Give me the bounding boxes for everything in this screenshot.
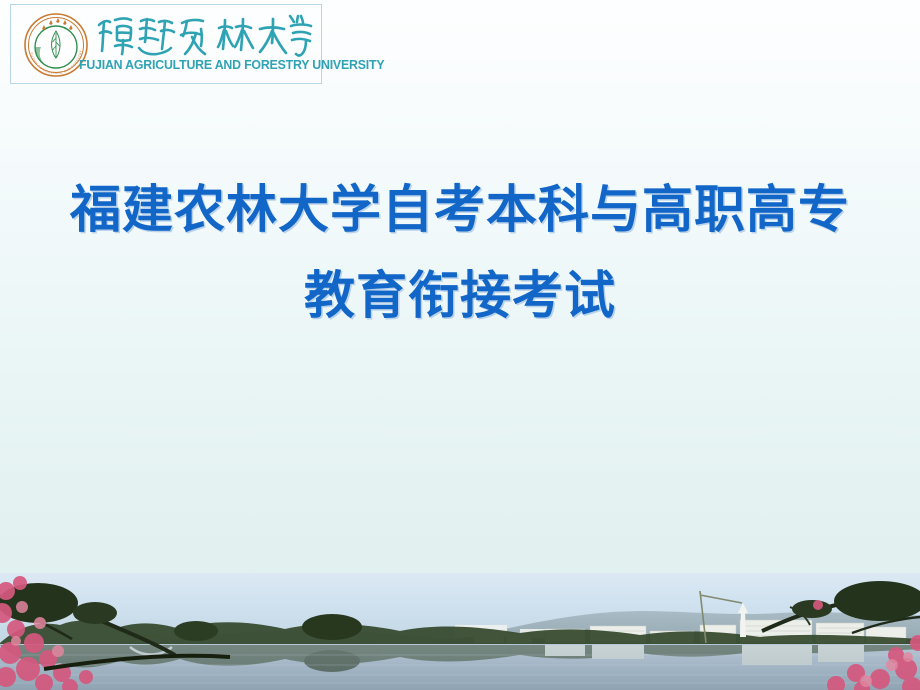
slide-title: 福建农林大学自考本科与高职高专 教育衔接考试 bbox=[0, 168, 920, 340]
university-logo-block: FUJIAN AGRICULTURE AND FORESTRY UNIV bbox=[10, 4, 322, 84]
slide-title-line-2: 教育衔接考试 bbox=[0, 254, 920, 340]
slide-title-line-1: 福建农林大学自考本科与高职高专 bbox=[0, 168, 920, 254]
presentation-slide: FUJIAN AGRICULTURE AND FORESTRY UNIV bbox=[0, 0, 920, 690]
university-english-name: FUJIAN AGRICULTURE AND FORESTRY UNIVERSI… bbox=[79, 58, 316, 72]
campus-lake-photo bbox=[0, 573, 920, 690]
university-chinese-name-calligraphy bbox=[95, 11, 317, 57]
